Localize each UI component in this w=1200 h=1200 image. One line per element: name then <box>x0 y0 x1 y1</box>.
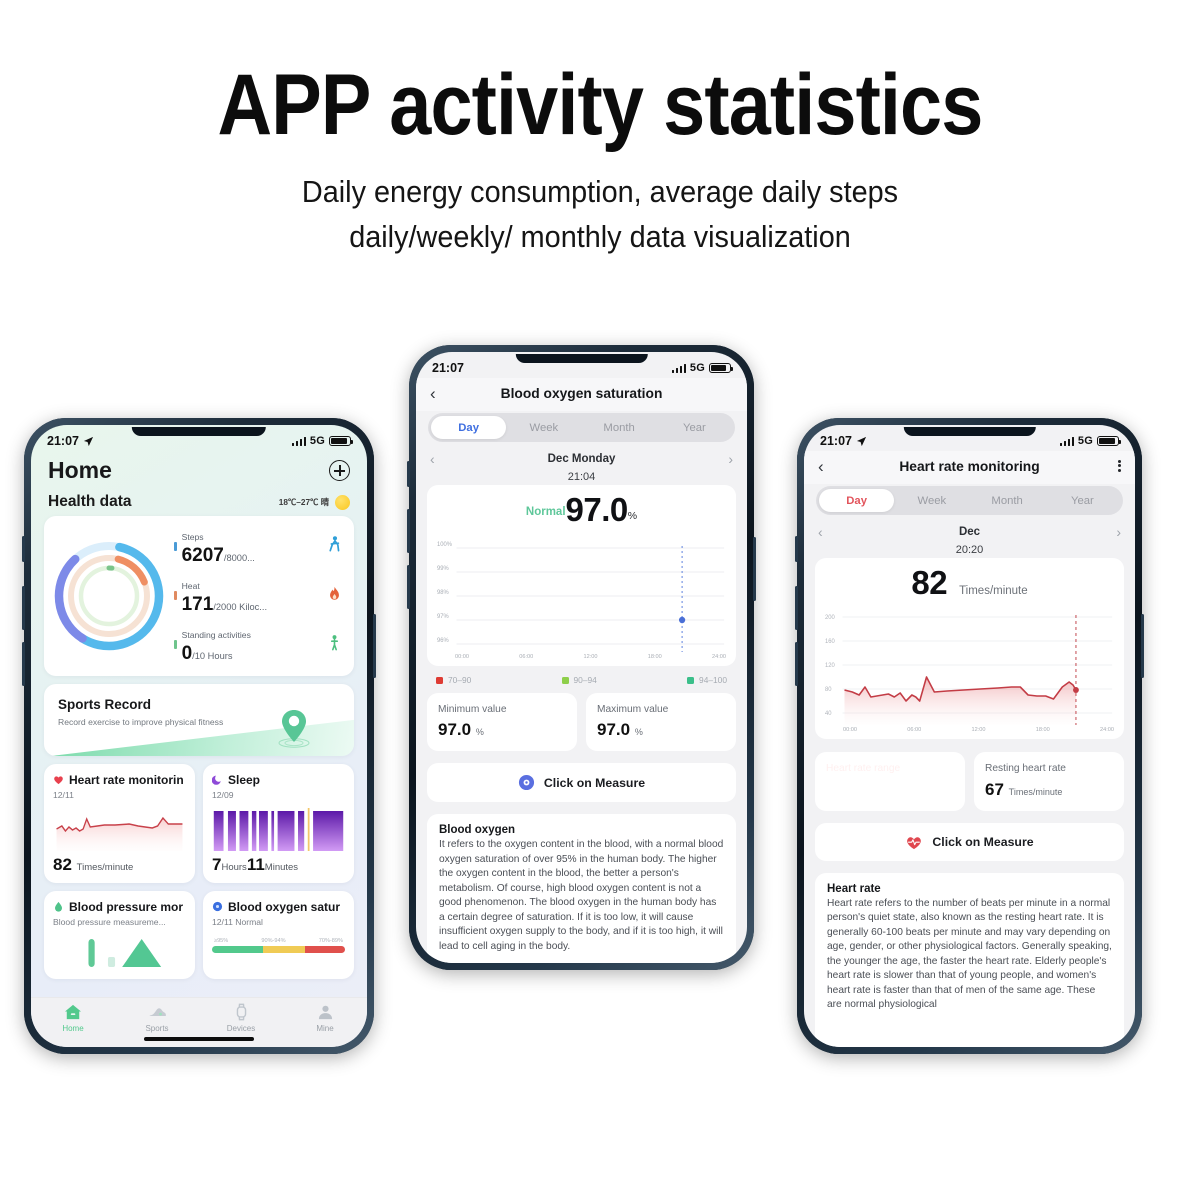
health-metrics: Steps 6207/8000... Heat 171/2000 <box>170 527 344 665</box>
reading-unit: % <box>628 510 637 522</box>
svg-text:100%: 100% <box>437 542 453 548</box>
location-arrow-icon <box>83 436 94 447</box>
blood-pressure-card[interactable]: Blood pressure mor Blood pressure measur… <box>44 891 195 979</box>
legend-label: 70–90 <box>448 675 471 685</box>
tab-label: Mine <box>283 1024 367 1033</box>
volume-down-button[interactable] <box>22 642 25 686</box>
period-segmented-control: Day Week Month Year <box>428 413 735 442</box>
heart-rate-range-value: 66-94 <box>826 780 869 799</box>
resting-heart-rate-value: 67 <box>985 780 1004 799</box>
home-icon <box>31 1003 115 1021</box>
heart-rate-range-unit: Times/minute <box>874 787 931 798</box>
power-button[interactable] <box>1141 614 1144 678</box>
resting-heart-rate-label: Resting heart rate <box>985 762 1113 775</box>
metric-value: 0 <box>182 643 193 664</box>
metric-steps: Steps 6207/8000... <box>174 527 344 567</box>
network-label: 5G <box>1078 435 1093 447</box>
legend-item: 70–90 <box>436 675 471 685</box>
health-data-header: Health data 18℃–27℃ 晴 <box>31 488 367 516</box>
minmax-row: Minimum value 97.0 % Maximum value 97.0 … <box>427 693 736 751</box>
card-title: Sleep <box>228 773 260 787</box>
x-tick: 18:00 <box>648 654 662 660</box>
blood-pressure-graphic <box>53 931 186 971</box>
maximum-unit: % <box>635 727 643 737</box>
metric-unit: /10 Hours <box>192 651 232 661</box>
signal-icon <box>1060 436 1074 446</box>
heart-rate-range-card: Heart rate range 66-94 Times/minute <box>815 752 965 810</box>
card-value-minutes: 11 <box>247 855 265 874</box>
shoe-icon <box>115 1003 199 1021</box>
sun-icon <box>335 495 350 510</box>
chevron-right-icon[interactable]: › <box>728 451 733 467</box>
page-subtitle: Daily energy consumption, average daily … <box>247 170 954 260</box>
metric-label: Steps <box>182 532 204 542</box>
heart-icon <box>53 774 64 785</box>
chevron-left-icon[interactable]: ‹ <box>430 451 435 467</box>
legend-item: 94–100 <box>687 675 727 685</box>
segment-week[interactable]: Week <box>506 416 581 439</box>
metric-color-bar <box>174 542 177 551</box>
add-icon[interactable] <box>329 460 350 481</box>
segment-year[interactable]: Year <box>1045 489 1120 512</box>
x-tick: 00:00 <box>455 654 469 660</box>
card-subtitle: 12/11 Normal <box>212 917 345 927</box>
chevron-right-icon[interactable]: › <box>1116 524 1121 540</box>
drop-icon <box>53 901 64 912</box>
oxygen-measure-icon <box>518 774 535 791</box>
metric-heat: Heat 171/2000 Kiloc... <box>174 576 344 616</box>
power-button[interactable] <box>373 614 376 678</box>
status-badge: Normal <box>526 506 566 518</box>
metric-label: Heat <box>182 581 200 591</box>
card-subtitle: Blood pressure measureme... <box>53 917 186 927</box>
volume-down-button[interactable] <box>407 565 410 609</box>
heart-rate-card[interactable]: Heart rate monitorin 12/11 82 Times/minu… <box>44 764 195 883</box>
battery-icon <box>329 436 351 447</box>
x-tick: 24:00 <box>712 654 726 660</box>
reading-value: 82 <box>911 564 947 601</box>
tab-home[interactable]: Home <box>31 1003 115 1033</box>
spo2-x-axis: 00:00 06:00 12:00 18:00 24:00 <box>435 652 728 660</box>
silent-switch[interactable] <box>407 461 410 487</box>
status-time: 21:07 <box>47 434 79 448</box>
signal-icon <box>672 363 686 373</box>
activity-rings <box>48 535 170 657</box>
signal-icon <box>292 436 306 446</box>
heart-rate-range-label: Heart rate range <box>826 762 954 775</box>
x-tick: 12:00 <box>584 654 598 660</box>
oxygen-legend-label: 90%-94% <box>261 938 285 944</box>
heart-rate-screen: 21:07 5G ‹ Heart rate monitoring <box>804 425 1135 1047</box>
segment-day[interactable]: Day <box>819 489 894 512</box>
more-vertical-icon[interactable] <box>1105 458 1121 475</box>
info-title: Heart rate <box>827 883 1112 895</box>
metric-standing: Standing activities 0/10 Hours <box>174 625 344 665</box>
oxygen-segment-green <box>212 946 263 953</box>
date-label: Dec <box>959 526 980 538</box>
card-title: Blood oxygen satur <box>228 900 340 914</box>
sleep-card[interactable]: Sleep 12/09 <box>203 764 354 883</box>
heart-rate-plot: 200160 12080 40 <box>823 607 1116 725</box>
volume-up-button[interactable] <box>795 586 798 630</box>
phone-notch <box>903 427 1035 436</box>
card-subtitle: 12/09 <box>212 790 345 800</box>
info-body: It refers to the oxygen content in the b… <box>439 838 724 954</box>
segment-month[interactable]: Month <box>970 489 1045 512</box>
map-pin-icon <box>278 708 310 748</box>
oxygen-legend-label: 70%-89% <box>319 938 343 944</box>
heart-rate-pill-row: Heart rate range 66-94 Times/minute Rest… <box>815 752 1124 810</box>
oxygen-segment-yellow <box>263 946 306 953</box>
svg-text:160: 160 <box>825 639 835 645</box>
oxygen-legend-label: ≥95% <box>214 938 228 944</box>
maximum-value: 97.0 <box>597 720 630 739</box>
svg-text:96%: 96% <box>437 638 449 644</box>
card-unit: Times/minute <box>77 862 134 873</box>
blood-oxygen-screen: 21:07 5G ‹ Blood oxygen saturation Day W… <box>416 352 747 963</box>
status-time: 21:07 <box>820 434 852 448</box>
chevron-left-icon[interactable]: ‹ <box>818 524 823 540</box>
card-subtitle: 12/11 <box>53 790 186 800</box>
status-time: 21:07 <box>432 361 464 375</box>
tab-label: Devices <box>199 1024 283 1033</box>
network-label: 5G <box>310 435 325 447</box>
heart-pulse-icon <box>905 834 923 850</box>
circle-icon <box>212 901 223 912</box>
tab-sports[interactable]: Sports <box>115 1003 199 1033</box>
mini-card-row-1: Heart rate monitorin 12/11 82 Times/minu… <box>44 764 354 883</box>
flame-icon <box>325 586 344 606</box>
mini-card-row-2: Blood pressure mor Blood pressure measur… <box>44 891 354 979</box>
x-tick: 06:00 <box>907 727 921 733</box>
phone-heart-rate: 21:07 5G ‹ Heart rate monitoring <box>797 418 1142 1054</box>
chevron-left-icon[interactable]: ‹ <box>818 458 834 475</box>
metric-value: 171 <box>182 594 214 615</box>
svg-text:99%: 99% <box>437 566 449 572</box>
blood-oxygen-card[interactable]: Blood oxygen satur 12/11 Normal ≥95% 90%… <box>203 891 354 979</box>
reading-value: 97.0 <box>566 491 628 528</box>
health-ring-card[interactable]: Steps 6207/8000... Heat 171/2000 <box>44 516 354 676</box>
minimum-value: 97.0 <box>438 720 471 739</box>
volume-down-button[interactable] <box>795 642 798 686</box>
x-tick: 06:00 <box>519 654 533 660</box>
date-navigator: ‹ Dec › <box>804 515 1135 541</box>
volume-up-button[interactable] <box>407 509 410 553</box>
phone-home: 21:07 5G Home Health data 18℃–27 <box>24 418 374 1054</box>
promo-page: APP activity statistics Daily energy con… <box>0 0 1200 1200</box>
metric-unit: /2000 Kiloc... <box>213 602 267 612</box>
power-button[interactable] <box>753 537 756 601</box>
metric-unit: /8000... <box>224 553 255 563</box>
network-label: 5G <box>690 362 705 374</box>
chevron-left-icon[interactable]: ‹ <box>430 385 446 402</box>
resting-heart-rate-card: Resting heart rate 67 Times/minute <box>974 752 1124 810</box>
tab-label: Home <box>31 1024 115 1033</box>
maximum-value-card: Maximum value 97.0 % <box>586 693 736 751</box>
svg-text:200: 200 <box>825 615 835 621</box>
legend-label: 90–94 <box>574 675 597 685</box>
home-indicator <box>144 1037 254 1041</box>
heart-rate-x-axis: 00:00 06:00 12:00 18:00 24:00 <box>823 725 1116 733</box>
battery-icon <box>709 363 731 374</box>
legend-label: 94–100 <box>699 675 727 685</box>
tab-devices[interactable]: Devices <box>199 1003 283 1033</box>
oxygen-legend: ≥95% 90%-94% 70%-89% <box>212 938 345 944</box>
home-screen: 21:07 5G Home Health data 18℃–27 <box>31 425 367 1047</box>
card-unit-hours: Hours <box>221 862 246 873</box>
tab-mine[interactable]: Mine <box>283 1003 367 1033</box>
reading-unit: Times/minute <box>959 585 1028 597</box>
svg-text:80: 80 <box>825 687 832 693</box>
volume-up-button[interactable] <box>22 586 25 630</box>
card-title: Blood pressure mor <box>69 900 183 914</box>
nav-bar: ‹ Heart rate monitoring <box>804 451 1135 484</box>
reading-time: 20:20 <box>804 541 1135 558</box>
svg-text:97%: 97% <box>437 614 449 620</box>
home-title: Home <box>48 457 112 484</box>
health-data-title: Health data <box>48 493 132 511</box>
sports-record-card[interactable]: Sports Record Record exercise to improve… <box>44 684 354 756</box>
blood-oxygen-info-card: Blood oxygen It refers to the oxygen con… <box>427 814 736 963</box>
watch-icon <box>199 1003 283 1021</box>
date-label: Dec Monday <box>548 453 616 465</box>
sleep-bar-chart <box>212 807 345 851</box>
home-header: Home <box>31 451 367 488</box>
svg-text:40: 40 <box>825 711 832 717</box>
svg-text:120: 120 <box>825 663 835 669</box>
metric-value: 6207 <box>182 545 224 566</box>
metric-color-bar <box>174 640 177 649</box>
segment-day[interactable]: Day <box>431 416 506 439</box>
person-icon <box>283 1003 367 1021</box>
maximum-label: Maximum value <box>597 703 725 716</box>
legend-item: 90–94 <box>562 675 597 685</box>
measure-label: Click on Measure <box>544 776 645 790</box>
heart-rate-info-card: Heart rate Heart rate refers to the numb… <box>815 873 1124 1047</box>
minimum-value-card: Minimum value 97.0 % <box>427 693 577 751</box>
battery-icon <box>1097 436 1119 447</box>
resting-heart-rate-unit: Times/minute <box>1009 787 1063 797</box>
oxygen-range-bar <box>212 946 345 953</box>
screen-title: Heart rate monitoring <box>834 459 1105 474</box>
page-title: APP activity statistics <box>72 62 1128 148</box>
spo2-plot: 100%99% 98%97% 96% <box>435 534 728 652</box>
minimum-label: Minimum value <box>438 703 566 716</box>
x-tick: 00:00 <box>843 727 857 733</box>
date-navigator: ‹ Dec Monday › <box>416 442 747 468</box>
x-tick: 12:00 <box>972 727 986 733</box>
hero-section: APP activity statistics Daily energy con… <box>0 0 1200 260</box>
moon-icon <box>212 774 223 785</box>
metric-label: Standing activities <box>182 630 251 640</box>
info-title: Blood oxygen <box>439 824 724 836</box>
card-unit-minutes: Minutes <box>265 862 298 873</box>
weather-info: 18℃–27℃ 晴 <box>279 495 350 510</box>
period-segmented-control: Day Week Month Year <box>816 486 1123 515</box>
segment-year[interactable]: Year <box>657 416 732 439</box>
heart-rate-chart-card: 82Times/minute 200160 <box>815 558 1124 739</box>
card-title: Heart rate monitorin <box>69 773 184 787</box>
svg-text:98%: 98% <box>437 590 449 596</box>
screen-title: Blood oxygen saturation <box>446 386 717 401</box>
measure-button[interactable]: Click on Measure <box>815 823 1124 861</box>
tab-label: Sports <box>115 1024 199 1033</box>
metric-color-bar <box>174 591 177 600</box>
standing-person-icon <box>325 635 344 655</box>
spo2-reading: Normal97.0% <box>435 490 728 532</box>
heart-rate-sparkline <box>53 807 186 851</box>
x-tick: 24:00 <box>1100 727 1114 733</box>
measure-label: Click on Measure <box>932 835 1033 849</box>
spo2-chart-card: Normal97.0% 100%99% 98%97% 96% <box>427 485 736 666</box>
walking-person-icon <box>325 536 344 557</box>
segment-week[interactable]: Week <box>894 489 969 512</box>
location-arrow-icon <box>856 436 867 447</box>
card-value: 82 <box>53 855 72 874</box>
x-tick: 18:00 <box>1036 727 1050 733</box>
minimum-unit: % <box>476 727 484 737</box>
heart-rate-reading: 82Times/minute <box>823 563 1116 605</box>
nav-bar: ‹ Blood oxygen saturation <box>416 378 747 411</box>
measure-button[interactable]: Click on Measure <box>427 763 736 802</box>
silent-switch[interactable] <box>22 536 25 562</box>
weather-temp: 18℃–27℃ 晴 <box>279 496 329 508</box>
segment-month[interactable]: Month <box>582 416 657 439</box>
spo2-legend: 70–90 90–94 94–100 <box>416 666 747 693</box>
silent-switch[interactable] <box>795 536 798 562</box>
home-card-list: Steps 6207/8000... Heat 171/2000 <box>31 516 367 979</box>
phone-blood-oxygen: 21:07 5G ‹ Blood oxygen saturation Day W… <box>409 345 754 970</box>
reading-time: 21:04 <box>416 468 747 485</box>
phone-notch <box>515 354 647 363</box>
info-body: Heart rate refers to the number of beats… <box>827 897 1112 1013</box>
oxygen-segment-red <box>305 946 345 953</box>
phone-notch <box>132 427 266 436</box>
